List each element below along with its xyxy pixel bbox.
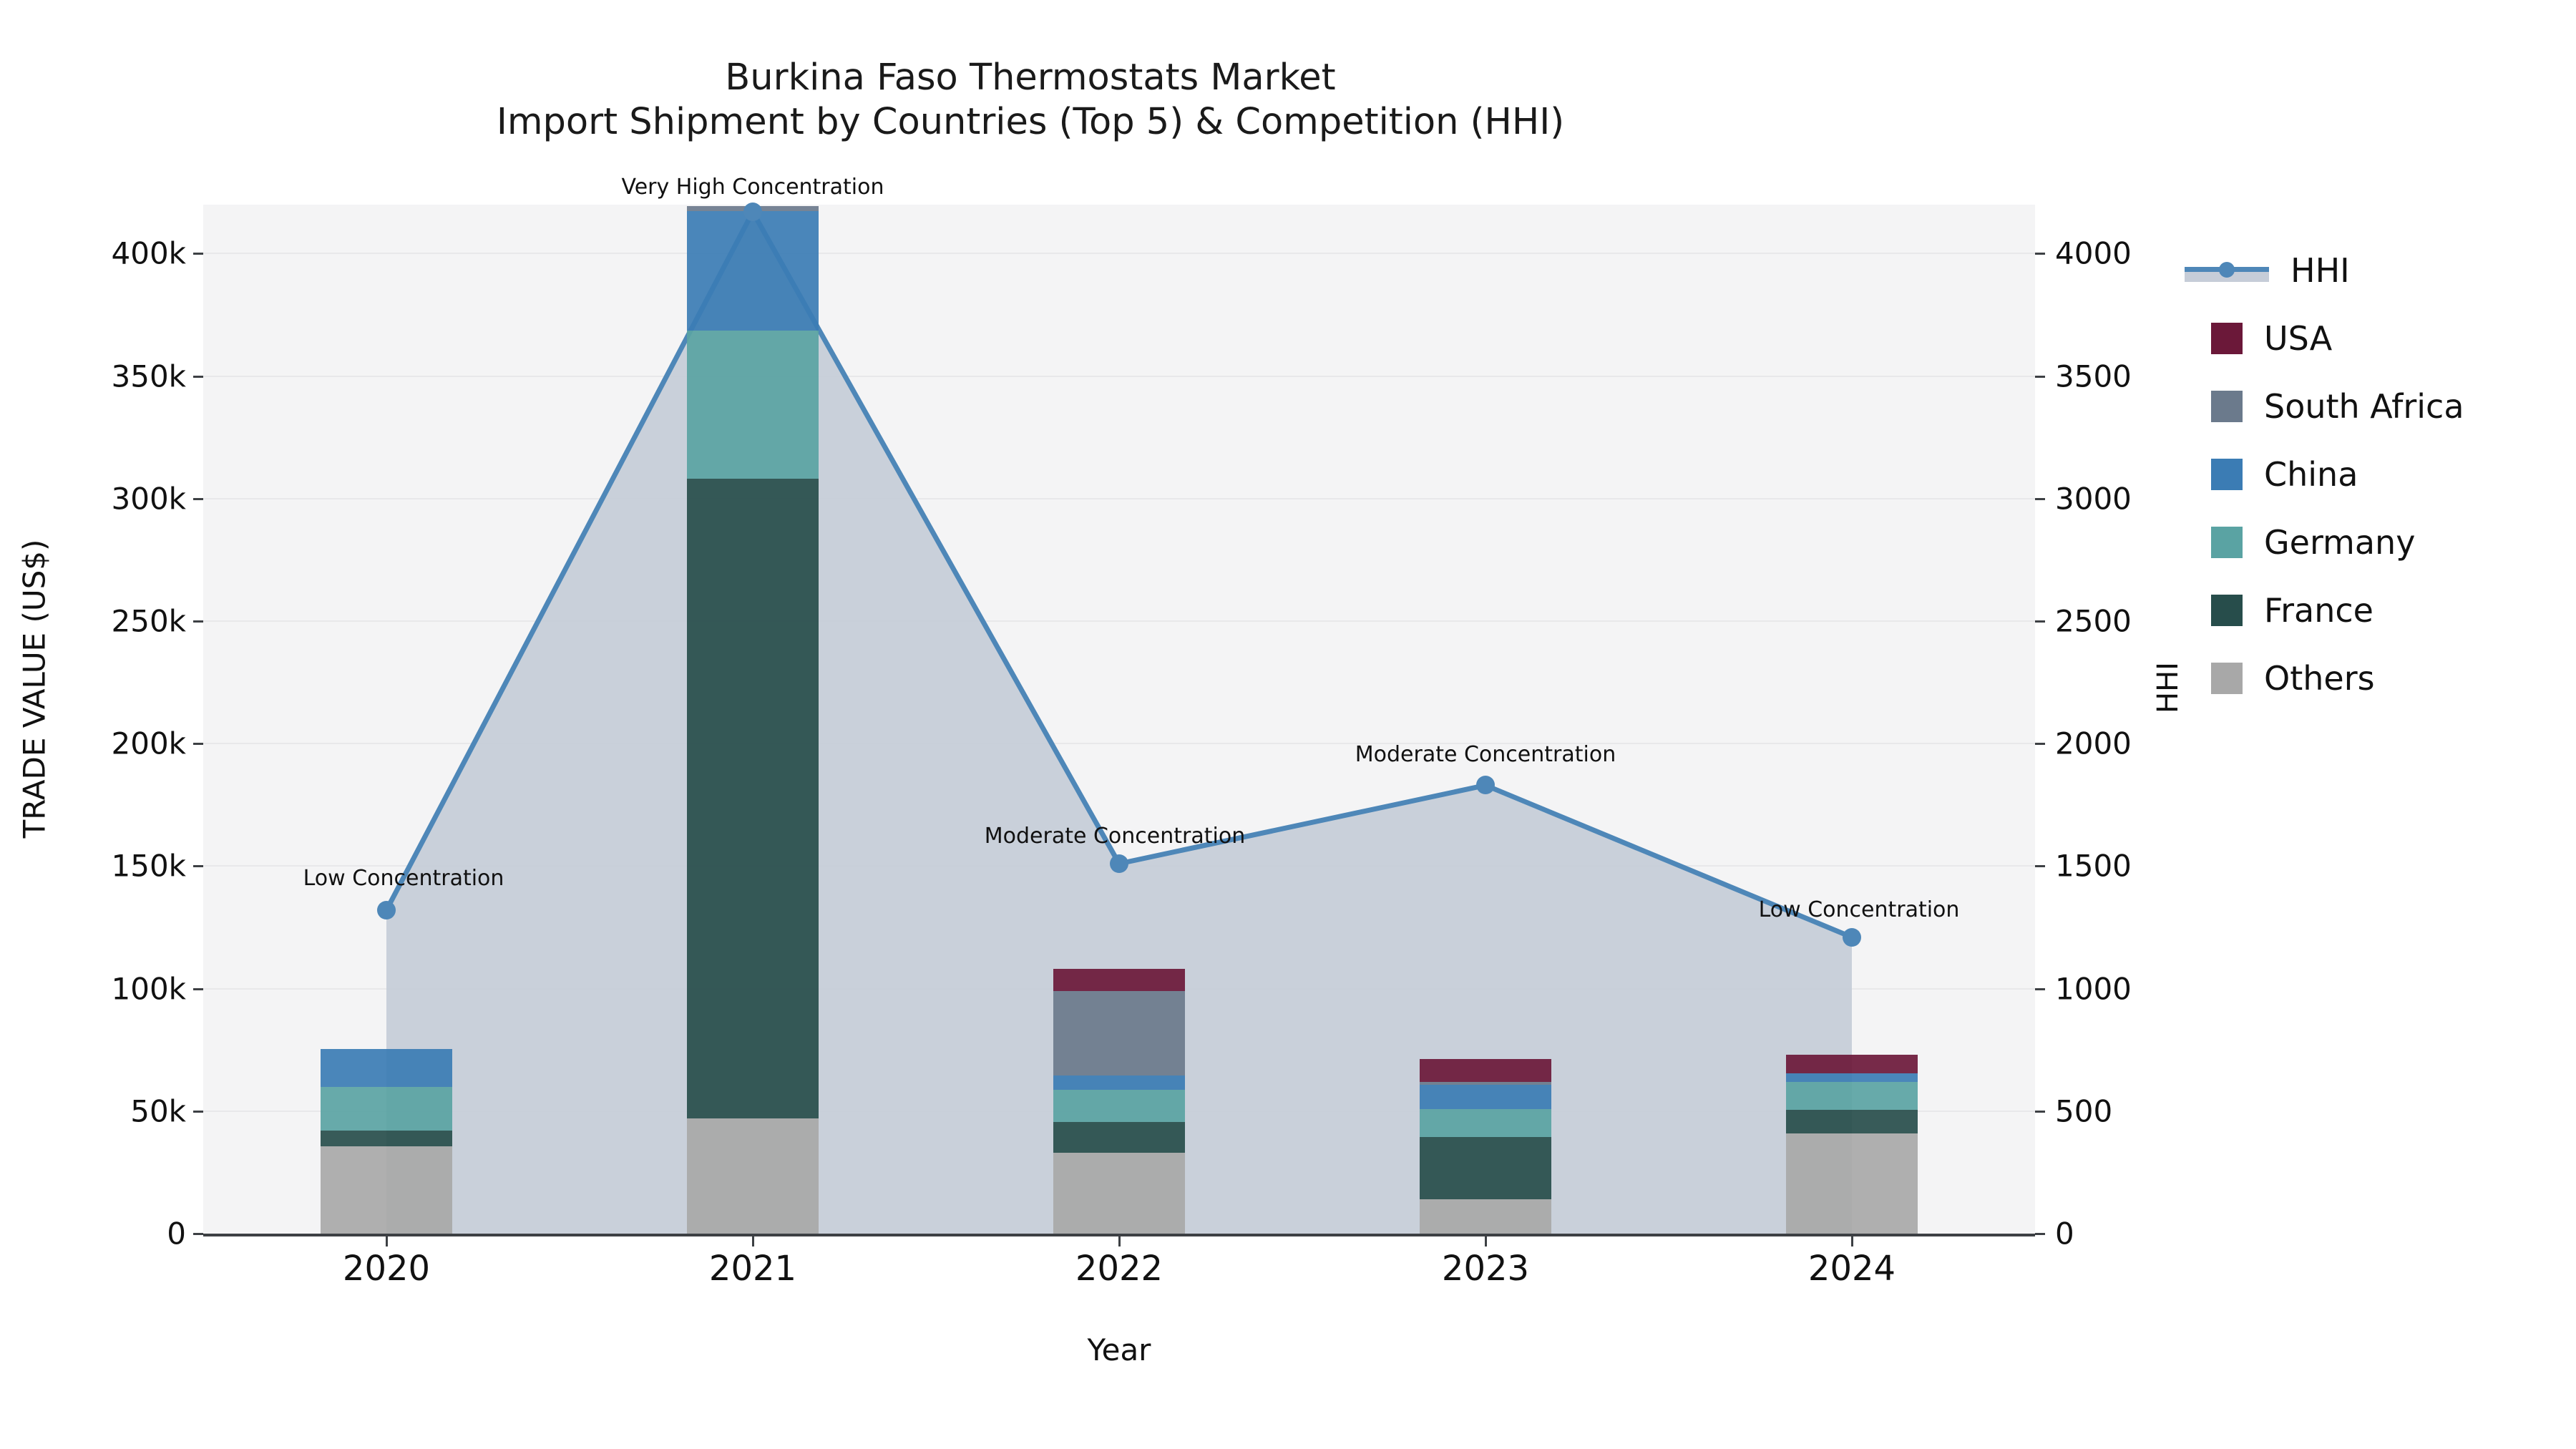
- y-axis-right-tick-label: 2000: [2055, 726, 2132, 761]
- chart-figure: Burkina Faso Thermostats Market Import S…: [0, 0, 2576, 1449]
- bar-segment-others: [687, 1118, 819, 1234]
- bar-group: [687, 205, 819, 1234]
- plot-clip: [203, 205, 2035, 1234]
- y-axis-right-tick-mark: [2035, 376, 2045, 378]
- bar-segment-usa: [1053, 969, 1185, 992]
- y-axis-left-label: TRADE VALUE (US$): [17, 403, 52, 975]
- y-axis-left-tick-mark: [193, 743, 203, 745]
- legend-color-swatch: [2211, 595, 2243, 626]
- chart-title: Burkina Faso Thermostats Market: [0, 56, 2061, 100]
- y-axis-left-tick-label: 150k: [43, 849, 186, 884]
- bar-group: [321, 205, 452, 1234]
- bar-segment-china: [1786, 1073, 1918, 1082]
- x-axis-tick-label: 2023: [1442, 1249, 1529, 1289]
- legend-item-usa[interactable]: USA: [2211, 304, 2569, 372]
- bar-group: [1420, 205, 1551, 1234]
- y-axis-right-tick-mark: [2035, 620, 2045, 623]
- legend-item-others[interactable]: Others: [2211, 644, 2569, 712]
- bar-group: [1786, 205, 1918, 1234]
- legend-item-label: France: [2264, 591, 2373, 630]
- y-axis-right-tick-label: 1000: [2055, 971, 2132, 1006]
- y-axis-right-tick-label: 3000: [2055, 481, 2132, 516]
- y-axis-right-tick-mark: [2035, 253, 2045, 255]
- bar-segment-others: [1786, 1133, 1918, 1234]
- x-axis-tick-mark: [1485, 1236, 1487, 1246]
- y-axis-right-tick-mark: [2035, 865, 2045, 867]
- legend-color-swatch: [2211, 459, 2243, 490]
- legend-item-south-africa[interactable]: South Africa: [2211, 372, 2569, 440]
- y-axis-left-tick-mark: [193, 988, 203, 990]
- y-axis-right-tick-label: 3500: [2055, 358, 2132, 394]
- hhi-annotation-label: Low Concentration: [1759, 897, 1960, 922]
- legend-item-china[interactable]: China: [2211, 440, 2569, 508]
- y-axis-left-tick-label: 350k: [43, 358, 186, 394]
- legend-item-label: China: [2264, 455, 2358, 494]
- chart-title-block: Burkina Faso Thermostats Market Import S…: [0, 56, 2061, 145]
- x-axis-tick-mark: [1118, 1236, 1121, 1246]
- bar-segment-usa: [1420, 1059, 1551, 1082]
- y-axis-left-tick-label: 100k: [43, 971, 186, 1006]
- y-axis-left-tick-label: 400k: [43, 236, 186, 271]
- y-axis-left-tick-mark: [193, 376, 203, 378]
- y-axis-right-label: HHI: [2152, 545, 2185, 831]
- y-axis-right-tick-label: 1500: [2055, 849, 2132, 884]
- y-axis-right-tick-label: 4000: [2055, 236, 2132, 271]
- x-axis-tick-label: 2020: [343, 1249, 430, 1289]
- hhi-annotation-label: Moderate Concentration: [985, 824, 1245, 849]
- x-axis-label: Year: [203, 1332, 2035, 1367]
- legend-item-label: Germany: [2264, 523, 2415, 562]
- legend-item-label: South Africa: [2264, 387, 2464, 426]
- bar-segment-france: [687, 479, 819, 1118]
- y-axis-left-tick-mark: [193, 620, 203, 623]
- y-axis-left-tick-mark: [193, 1233, 203, 1235]
- y-axis-left-tick-mark: [193, 498, 203, 500]
- hhi-annotation-label: Very High Concentration: [622, 175, 884, 200]
- legend-item-hhi[interactable]: HHI: [2211, 236, 2569, 304]
- bar-group: [1053, 205, 1185, 1234]
- y-axis-right-tick-mark: [2035, 743, 2045, 745]
- bar-segment-china: [1053, 1075, 1185, 1090]
- bar-segment-usa: [1786, 1055, 1918, 1073]
- legend-line-marker-icon: [2219, 262, 2235, 278]
- x-axis-tick-label: 2022: [1075, 1249, 1163, 1289]
- hhi-marker: [377, 901, 396, 919]
- legend-item-label: Others: [2264, 659, 2375, 698]
- legend-line-swatch: [2185, 255, 2269, 286]
- bar-segment-others: [1420, 1199, 1551, 1234]
- hhi-annotation-label: Moderate Concentration: [1355, 742, 1616, 767]
- y-axis-right-tick-mark: [2035, 1111, 2045, 1113]
- bar-segment-germany: [1786, 1082, 1918, 1110]
- bar-segment-south-africa: [1053, 991, 1185, 1075]
- bar-segment-france: [1053, 1122, 1185, 1153]
- plot-area: Low ConcentrationVery High Concentration…: [203, 205, 2035, 1234]
- x-axis-tick-mark: [752, 1236, 754, 1246]
- hhi-marker: [1843, 928, 1861, 947]
- y-axis-right-tick-label: 500: [2055, 1093, 2112, 1128]
- bar-segment-germany: [1420, 1109, 1551, 1137]
- x-axis-tick-mark: [1851, 1236, 1853, 1246]
- y-axis-right-tick-label: 2500: [2055, 604, 2132, 639]
- x-axis-tick-label: 2024: [1808, 1249, 1896, 1289]
- bar-segment-france: [1420, 1137, 1551, 1200]
- y-axis-right-tick-mark: [2035, 498, 2045, 500]
- bar-segment-china: [687, 211, 819, 331]
- legend-color-swatch: [2211, 323, 2243, 354]
- y-axis-right-tick-mark: [2035, 988, 2045, 990]
- bar-segment-others: [1053, 1153, 1185, 1234]
- y-axis-left-tick-mark: [193, 865, 203, 867]
- bar-segment-germany: [1053, 1090, 1185, 1122]
- bar-segment-others: [321, 1146, 452, 1234]
- bar-segment-south-africa: [1420, 1082, 1551, 1085]
- bar-segment-france: [1786, 1110, 1918, 1133]
- legend-color-swatch: [2211, 391, 2243, 422]
- bar-segment-germany: [321, 1087, 452, 1131]
- y-axis-right-tick-mark: [2035, 1233, 2045, 1235]
- y-axis-left-tick-mark: [193, 1111, 203, 1113]
- legend-color-swatch: [2211, 663, 2243, 694]
- y-axis-left-tick-mark: [193, 253, 203, 255]
- x-axis-tick-mark: [386, 1236, 388, 1246]
- legend-item-germany[interactable]: Germany: [2211, 508, 2569, 576]
- y-axis-left-tick-label: 50k: [43, 1093, 186, 1128]
- legend-color-swatch: [2211, 527, 2243, 558]
- y-axis-left-tick-label: 300k: [43, 481, 186, 516]
- bar-segment-china: [1420, 1085, 1551, 1109]
- y-axis-left-tick-label: 200k: [43, 726, 186, 761]
- chart-legend: HHIUSASouth AfricaChinaGermanyFranceOthe…: [2211, 236, 2569, 712]
- bar-segment-china: [321, 1049, 452, 1087]
- chart-subtitle: Import Shipment by Countries (Top 5) & C…: [0, 100, 2061, 145]
- bar-segment-germany: [687, 331, 819, 479]
- y-axis-left-tick-label: 0: [43, 1216, 186, 1252]
- bar-segment-france: [321, 1131, 452, 1146]
- hhi-marker: [1110, 854, 1128, 873]
- hhi-annotation-label: Low Concentration: [303, 866, 504, 891]
- y-axis-right-tick-label: 0: [2055, 1216, 2074, 1252]
- legend-item-france[interactable]: France: [2211, 576, 2569, 644]
- legend-item-label: USA: [2264, 319, 2332, 358]
- y-axis-left-tick-label: 250k: [43, 604, 186, 639]
- x-axis-tick-label: 2021: [709, 1249, 796, 1289]
- legend-item-label: HHI: [2290, 251, 2350, 290]
